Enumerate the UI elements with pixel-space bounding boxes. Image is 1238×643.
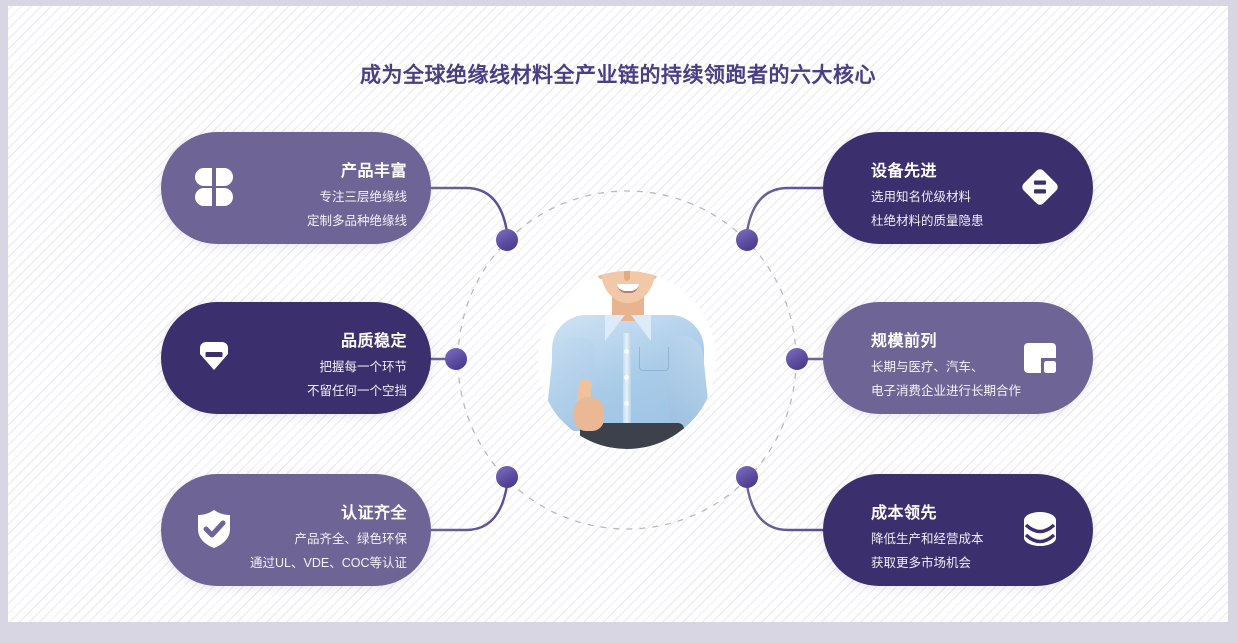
- card-line-1: 产品齐全、绿色环保: [294, 528, 407, 547]
- connector-left-top: [431, 188, 507, 232]
- node-dot-right-bottom: [736, 466, 758, 488]
- content-panel: 成为全球绝缘线材料全产业链的持续领跑者的六大核心: [8, 6, 1228, 622]
- card-title: 品质稳定: [341, 327, 407, 351]
- node-dot-right-middle: [786, 348, 808, 370]
- card-line-1: 选用知名优级材料: [871, 186, 971, 205]
- card-line-2: 不留任何一个空挡: [307, 380, 407, 399]
- connector-right-bottom: [747, 485, 823, 530]
- shield-check-icon: [191, 506, 237, 552]
- card-title: 产品丰富: [341, 157, 407, 181]
- card-line-1: 把握每一个环节: [319, 356, 407, 375]
- feature-card-quality-stable[interactable]: 品质稳定 把握每一个环节 不留任何一个空挡: [161, 302, 431, 414]
- card-line-2: 定制多品种绝缘线: [307, 210, 407, 229]
- four-petals-icon: [191, 164, 237, 210]
- card-title: 成本领先: [871, 499, 937, 523]
- card-line-1: 降低生产和经营成本: [871, 528, 984, 547]
- connector-right-top: [747, 188, 823, 232]
- feature-card-product-rich[interactable]: 产品丰富 专注三层绝缘线 定制多品种绝缘线: [161, 132, 431, 244]
- node-dot-left-bottom: [496, 466, 518, 488]
- card-title: 规模前列: [871, 327, 937, 351]
- feature-card-scale-leading[interactable]: 规模前列 长期与医疗、汽车、 电子消费企业进行长期合作: [823, 302, 1093, 414]
- node-dot-left-middle: [445, 348, 467, 370]
- connector-left-bottom: [431, 485, 507, 530]
- businessman-illustration: [538, 271, 716, 449]
- infographic-stage: 成为全球绝缘线材料全产业链的持续领跑者的六大核心: [0, 0, 1238, 643]
- gem-icon: [191, 334, 237, 380]
- diamond-bars-icon: [1017, 164, 1063, 210]
- card-line-1: 长期与医疗、汽车、: [871, 356, 984, 375]
- card-title: 设备先进: [871, 157, 937, 181]
- card-line-1: 专注三层绝缘线: [319, 186, 407, 205]
- card-line-2: 杜绝材料的质量隐患: [871, 210, 984, 229]
- page-title: 成为全球绝缘线材料全产业链的持续领跑者的六大核心: [8, 59, 1228, 89]
- node-dot-right-top: [736, 229, 758, 251]
- database-icon: [1017, 506, 1063, 552]
- node-dot-left-top: [496, 229, 518, 251]
- feature-card-certification[interactable]: 认证齐全 产品齐全、绿色环保 通过UL、VDE、COC等认证: [161, 474, 431, 586]
- card-line-2: 获取更多市场机会: [871, 552, 971, 571]
- card-title: 认证齐全: [341, 499, 407, 523]
- center-photo: [538, 271, 716, 449]
- feature-card-cost-leading[interactable]: 成本领先 降低生产和经营成本 获取更多市场机会: [823, 474, 1093, 586]
- layout-square-icon: [1017, 334, 1063, 380]
- card-line-2: 通过UL、VDE、COC等认证: [250, 552, 407, 571]
- card-line-2: 电子消费企业进行长期合作: [871, 380, 1021, 399]
- feature-card-advanced-equipment[interactable]: 设备先进 选用知名优级材料 杜绝材料的质量隐患: [823, 132, 1093, 244]
